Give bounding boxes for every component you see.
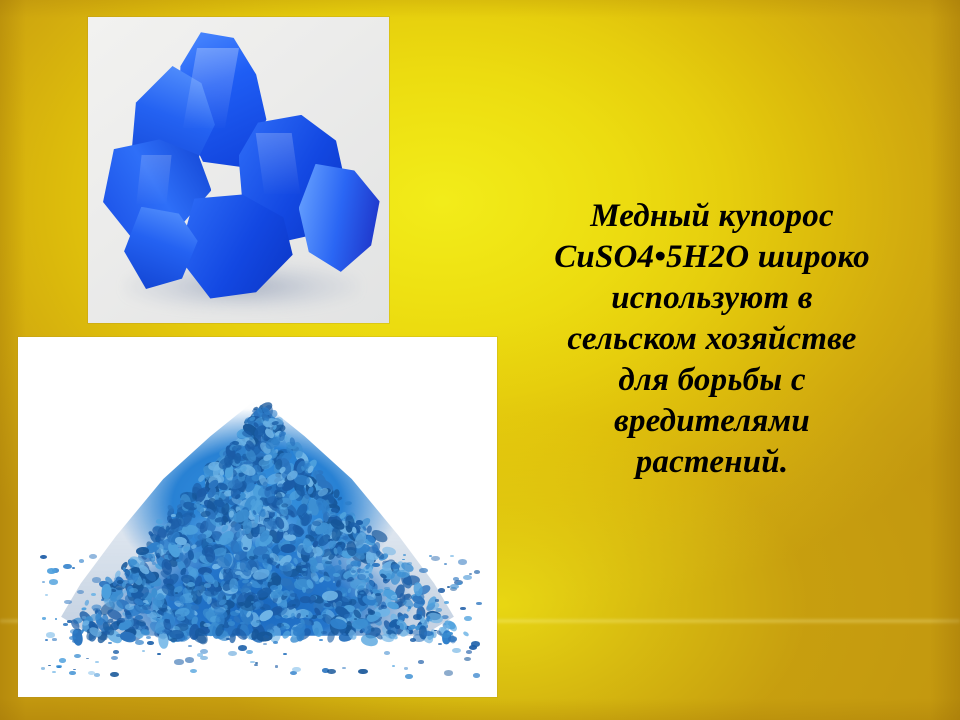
- powder-speck: [204, 584, 210, 588]
- powder-speck: [435, 608, 441, 612]
- powder-speck: [174, 597, 183, 603]
- powder-speck: [292, 667, 300, 672]
- powder-speck: [45, 594, 47, 595]
- powder-speck: [157, 653, 161, 655]
- powder-speck: [463, 575, 472, 580]
- powder-speck: [59, 658, 67, 663]
- powder-speck: [63, 564, 71, 569]
- powder-speck: [358, 595, 362, 597]
- powder-speck: [135, 640, 144, 646]
- powder-speck: [187, 582, 195, 587]
- powder-speck: [46, 632, 55, 638]
- powder-speck: [190, 669, 197, 673]
- powder-speck: [74, 654, 81, 658]
- powder-speck: [45, 639, 48, 641]
- powder-speck: [404, 667, 408, 670]
- copper-sulfate-powder-photo: [18, 337, 497, 697]
- powder-pile-illustration: [18, 337, 497, 697]
- powder-speck: [291, 566, 296, 569]
- powder-speck: [144, 610, 151, 614]
- powder-speck: [410, 584, 413, 586]
- powder-speck: [240, 622, 245, 625]
- powder-speck: [246, 650, 253, 654]
- powder-speck: [103, 631, 110, 635]
- powder-speck: [458, 559, 467, 564]
- powder-speck: [111, 621, 116, 624]
- powder-speck: [89, 554, 97, 559]
- powder-speck: [69, 671, 75, 675]
- powder-speck: [93, 608, 100, 612]
- powder-speck: [367, 594, 376, 599]
- powder-speck: [413, 614, 422, 619]
- powder-speck: [452, 648, 461, 654]
- powder-speck: [42, 581, 45, 583]
- powder-speck: [384, 651, 391, 655]
- powder-speck: [283, 615, 288, 618]
- powder-speck: [450, 584, 459, 589]
- powder-speck: [277, 561, 281, 563]
- powder-granule: [187, 550, 194, 560]
- powder-speck: [142, 650, 146, 652]
- powder-speck: [473, 673, 480, 677]
- powder-speck: [381, 605, 387, 608]
- powder-granule: [156, 519, 164, 524]
- powder-speck: [212, 561, 217, 564]
- powder-speck: [273, 641, 278, 644]
- powder-speck: [41, 667, 45, 670]
- powder-speck: [108, 642, 111, 644]
- powder-speck: [285, 626, 289, 628]
- powder-speck: [407, 562, 411, 565]
- powder-speck: [170, 638, 177, 642]
- powder-speck: [444, 563, 448, 565]
- powder-speck: [166, 624, 173, 628]
- powder-speck: [86, 658, 89, 660]
- powder-speck: [52, 638, 56, 641]
- powder-speck: [165, 619, 170, 622]
- powder-speck: [410, 638, 416, 642]
- powder-speck: [263, 643, 267, 646]
- powder-speck: [101, 599, 104, 601]
- powder-speck: [294, 627, 301, 631]
- powder-speck: [162, 608, 168, 612]
- powder-speck: [111, 656, 118, 660]
- powder-speck: [283, 593, 289, 596]
- powder-granule: [281, 502, 288, 507]
- powder-speck: [302, 568, 307, 571]
- powder-speck: [391, 564, 399, 569]
- powder-speck: [191, 605, 198, 610]
- powder-granule: [342, 535, 349, 540]
- powder-speck: [147, 641, 153, 645]
- powder-speck: [228, 651, 237, 656]
- powder-speck: [460, 607, 465, 610]
- powder-speck: [448, 636, 457, 641]
- powder-speck: [161, 614, 164, 616]
- caption-text: Медный купорос CuSO4•5H2O широко использ…: [500, 196, 924, 483]
- powder-speck: [63, 623, 68, 626]
- powder-speck: [319, 639, 323, 641]
- powder-speck: [152, 562, 157, 565]
- powder-speck: [95, 661, 99, 663]
- powder-speck: [157, 617, 160, 619]
- powder-speck: [354, 618, 357, 620]
- powder-speck: [200, 649, 208, 654]
- powder-speck: [321, 631, 327, 634]
- powder-speck: [185, 657, 195, 663]
- slide: Медный купорос CuSO4•5H2O широко использ…: [0, 0, 960, 720]
- powder-speck: [372, 563, 380, 568]
- powder-speck: [429, 555, 432, 557]
- powder-speck: [70, 629, 79, 634]
- powder-speck: [270, 585, 278, 590]
- powder-granule: [125, 604, 134, 610]
- powder-granule: [310, 564, 317, 574]
- powder-speck: [253, 602, 261, 607]
- powder-speck: [42, 617, 47, 620]
- powder-speck: [67, 620, 72, 623]
- powder-speck: [188, 645, 192, 647]
- powder-speck: [201, 564, 207, 567]
- powder-speck: [92, 577, 101, 583]
- powder-speck: [419, 568, 428, 574]
- powder-speck: [301, 562, 306, 565]
- powder-speck: [129, 580, 134, 583]
- powder-speck: [113, 650, 120, 654]
- powder-speck: [283, 653, 287, 656]
- powder-granule: [204, 623, 211, 627]
- powder-speck: [464, 657, 471, 661]
- powder-speck: [402, 559, 405, 561]
- powder-granule: [282, 562, 292, 578]
- powder-speck: [175, 592, 178, 594]
- powder-speck: [151, 558, 155, 560]
- powder-speck: [368, 610, 375, 614]
- powder-speck: [471, 641, 480, 647]
- powder-speck: [358, 669, 367, 675]
- powder-speck: [444, 670, 453, 676]
- powder-speck: [189, 595, 193, 597]
- powder-granule: [463, 631, 470, 638]
- powder-speck: [72, 567, 76, 569]
- copper-sulfate-crystals-photo: [88, 17, 389, 323]
- powder-speck: [418, 660, 423, 663]
- powder-speck: [131, 570, 137, 573]
- powder-speck: [332, 601, 341, 607]
- powder-speck: [146, 636, 152, 639]
- powder-speck: [233, 585, 240, 589]
- powder-speck: [395, 625, 401, 628]
- crystal-cluster-illustration: [88, 17, 389, 323]
- powder-speck: [73, 669, 76, 671]
- powder-speck: [466, 650, 472, 654]
- powder-speck: [357, 574, 366, 580]
- powder-speck: [349, 568, 354, 571]
- powder-speck: [174, 659, 183, 665]
- powder-speck: [476, 602, 482, 605]
- powder-speck: [252, 621, 261, 626]
- powder-speck: [55, 618, 58, 620]
- powder-speck: [342, 667, 346, 669]
- powder-speck: [48, 665, 51, 667]
- powder-speck: [384, 587, 390, 590]
- powder-speck: [397, 572, 406, 577]
- powder-granule: [355, 519, 363, 524]
- powder-speck: [408, 606, 412, 608]
- powder-speck: [438, 643, 442, 645]
- powder-speck: [405, 674, 413, 679]
- powder-speck: [82, 616, 86, 619]
- powder-speck: [392, 665, 396, 667]
- crystal-shard-far-right: [299, 164, 383, 274]
- powder-speck: [117, 618, 125, 623]
- powder-speck: [176, 559, 181, 562]
- powder-speck: [129, 588, 138, 593]
- powder-speck: [317, 615, 323, 618]
- powder-speck: [342, 596, 351, 602]
- powder-speck: [49, 579, 58, 584]
- powder-speck: [52, 671, 55, 673]
- powder-granule: [302, 586, 307, 593]
- powder-speck: [450, 555, 454, 557]
- powder-speck: [384, 579, 387, 581]
- powder-speck: [435, 599, 439, 601]
- powder-speck: [235, 571, 241, 575]
- powder-speck: [167, 576, 170, 578]
- powder-speck: [275, 665, 279, 667]
- powder-speck: [110, 672, 118, 677]
- powder-speck: [327, 669, 335, 674]
- powder-speck: [117, 580, 124, 584]
- powder-speck: [464, 616, 472, 621]
- powder-speck: [402, 594, 411, 600]
- powder-speck: [94, 673, 100, 677]
- powder-speck: [254, 664, 259, 667]
- powder-speck: [47, 568, 56, 573]
- powder-speck: [64, 600, 71, 604]
- powder-speck: [438, 588, 446, 593]
- powder-granule: [329, 512, 337, 517]
- powder-speck: [431, 556, 439, 561]
- powder-speck: [306, 615, 308, 616]
- powder-speck: [474, 570, 481, 574]
- powder-speck: [79, 559, 84, 562]
- powder-speck: [177, 616, 185, 621]
- powder-speck: [365, 571, 369, 573]
- powder-speck: [116, 634, 121, 637]
- powder-speck: [292, 604, 296, 606]
- powder-speck: [40, 555, 47, 559]
- powder-speck: [142, 605, 151, 610]
